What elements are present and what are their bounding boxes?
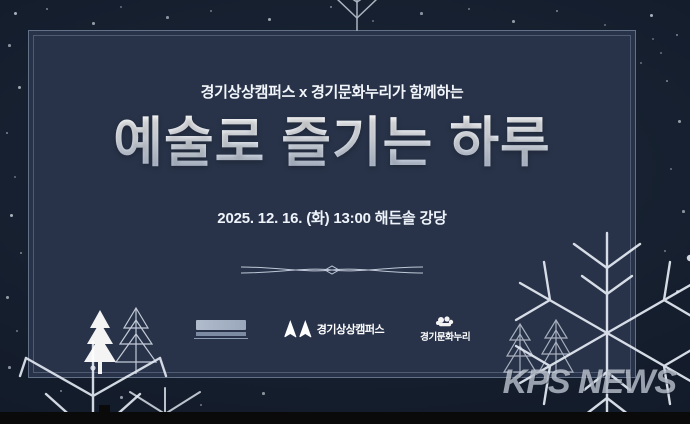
poster-title: 예술로 즐기는 하루	[33, 115, 631, 172]
bottom-letterbox-notch	[99, 405, 110, 424]
star-dot	[92, 22, 95, 25]
star-dot	[372, 20, 374, 22]
star-dot	[20, 252, 22, 254]
poster-subtitle: 경기상상캠퍼스 x 경기문화누리가 함께하는	[33, 81, 631, 102]
star-dot	[8, 44, 11, 47]
star-dot	[652, 38, 654, 40]
star-dot	[682, 210, 685, 213]
gyeonggi-province-subtext	[196, 332, 246, 336]
gyeonggi-province-logo	[194, 320, 248, 339]
star-dot	[6, 296, 9, 299]
star-dot	[666, 80, 668, 82]
star-dot	[512, 20, 515, 23]
ornament-divider-icon	[237, 257, 427, 283]
gyeonggi-munhwa-nuri-logo: 경기문화누리	[420, 315, 470, 343]
star-dot	[14, 176, 16, 178]
star-dot	[120, 396, 123, 399]
gyeonggi-sangsang-campus-logo: 경기상상캠퍼스	[284, 320, 384, 338]
poster-content: 경기상상캠퍼스 x 경기문화누리가 함께하는 예술로 즐기는 하루 2025. …	[33, 35, 631, 373]
campus-mountain-mark-icon	[284, 320, 312, 338]
star-dot	[678, 120, 681, 123]
sponsor-logo-strip: 경기상상캠퍼스 경기문화누리	[33, 315, 631, 343]
star-dot	[8, 366, 11, 369]
star-dot	[200, 404, 202, 406]
gyeonggi-province-wordmark	[196, 320, 246, 330]
star-dot	[60, 390, 62, 392]
star-dot	[420, 12, 423, 15]
star-dot	[664, 250, 666, 252]
star-dot	[650, 14, 653, 17]
star-dot	[10, 214, 13, 217]
star-dot	[670, 168, 672, 170]
star-dot	[262, 392, 265, 395]
event-poster: 경기상상캠퍼스 x 경기문화누리가 함께하는 예술로 즐기는 하루 2025. …	[0, 0, 690, 424]
star-dot	[6, 132, 8, 134]
star-dot	[660, 52, 662, 54]
star-dot	[166, 16, 169, 19]
star-dot	[210, 10, 212, 12]
nuri-cluster-mark-icon	[434, 315, 456, 328]
star-dot	[268, 18, 271, 21]
nuri-logo-label: 경기문화누리	[420, 329, 470, 343]
kps-news-watermark: KPS NEWS	[503, 363, 676, 402]
star-dot	[640, 62, 642, 64]
star-dot	[468, 8, 470, 10]
gyeonggi-province-rule	[194, 338, 248, 339]
star-dot	[556, 10, 558, 12]
star-dot	[676, 34, 678, 36]
poster-datetime-venue: 2025. 12. 16. (화) 13:00 해든솔 강당	[33, 207, 631, 228]
campus-logo-label: 경기상상캠퍼스	[317, 321, 384, 337]
star-dot	[18, 86, 21, 89]
star-dot	[676, 290, 679, 293]
star-dot	[604, 24, 606, 26]
star-dot	[14, 12, 17, 15]
star-dot	[330, 6, 332, 8]
star-dot	[16, 330, 18, 332]
star-dot	[120, 6, 122, 8]
star-dot	[46, 8, 48, 10]
